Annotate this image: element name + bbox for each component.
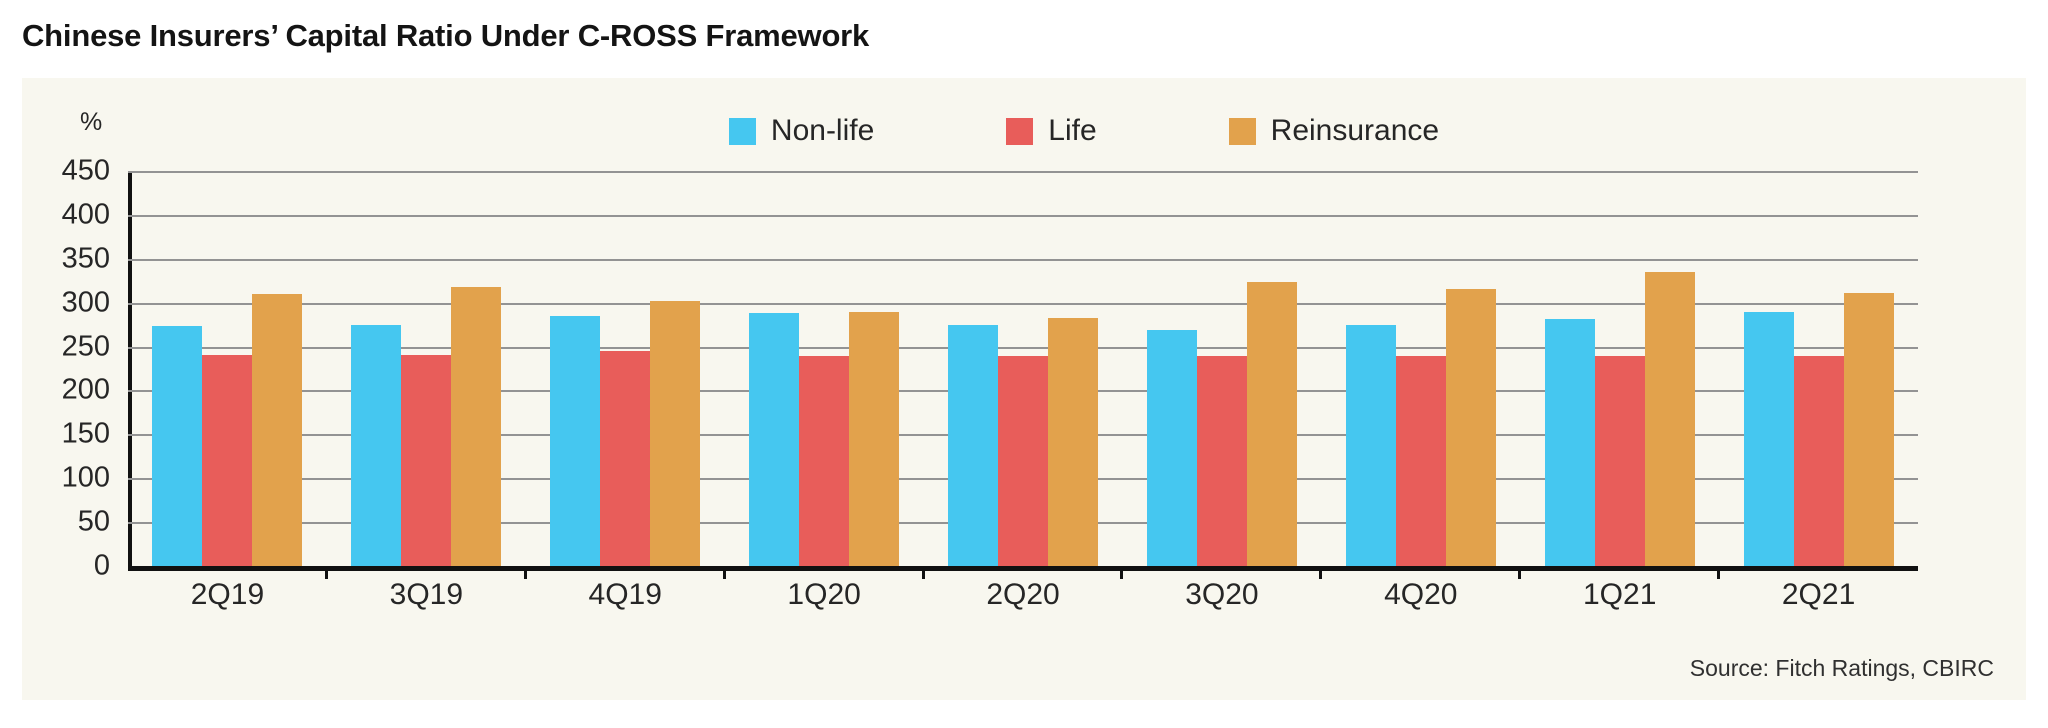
x-axis-tick-label: 2Q20 xyxy=(924,578,1123,612)
bar-group-1q21 xyxy=(1520,171,1719,566)
bar-group-3q19 xyxy=(327,171,526,566)
x-axis-tick-label: 4Q19 xyxy=(526,578,725,612)
bar-reinsurance-3q19[interactable] xyxy=(451,287,501,566)
y-axis-tick-labels: 450400350300250200150100500 xyxy=(22,171,118,566)
bar-life-3q19[interactable] xyxy=(401,355,451,566)
bar-group-2q19 xyxy=(128,171,327,566)
x-axis-tick-labels: 2Q193Q194Q191Q202Q203Q204Q201Q212Q21 xyxy=(128,578,1918,612)
bar-reinsurance-2q20[interactable] xyxy=(1048,318,1098,566)
x-axis-tick-label: 2Q21 xyxy=(1719,578,1918,612)
x-axis-tick-label: 2Q19 xyxy=(128,578,327,612)
legend-item-label: Life xyxy=(1048,114,1096,148)
x-axis-tick-label: 3Q20 xyxy=(1122,578,1321,612)
y-axis-tick-label: 50 xyxy=(78,506,110,539)
bar-non-life-4q19[interactable] xyxy=(550,316,600,566)
bar-non-life-2q21[interactable] xyxy=(1744,312,1794,566)
bar-life-2q19[interactable] xyxy=(202,355,252,566)
bar-life-1q21[interactable] xyxy=(1595,356,1645,566)
x-axis-line xyxy=(128,566,1918,571)
y-axis-tick-label: 400 xyxy=(62,198,110,231)
bar-non-life-3q20[interactable] xyxy=(1147,330,1197,566)
bars-layer xyxy=(128,171,1918,566)
bar-life-3q20[interactable] xyxy=(1197,356,1247,566)
chart-panel: % Non-lifeLifeReinsurance 45040035030025… xyxy=(22,78,2026,700)
bar-reinsurance-3q20[interactable] xyxy=(1247,282,1297,566)
source-note: Source: Fitch Ratings, CBIRC xyxy=(1690,655,1994,682)
bar-group-2q21 xyxy=(1719,171,1918,566)
bar-reinsurance-2q19[interactable] xyxy=(252,294,302,566)
x-axis-tick-label: 4Q20 xyxy=(1321,578,1520,612)
bar-life-2q21[interactable] xyxy=(1794,356,1844,566)
x-axis-tick-label: 1Q20 xyxy=(725,578,924,612)
y-axis-tick-label: 300 xyxy=(62,286,110,319)
y-axis-tick-label: 350 xyxy=(62,242,110,275)
chart-legend: Non-lifeLifeReinsurance xyxy=(22,114,2026,148)
bar-reinsurance-4q19[interactable] xyxy=(650,301,700,566)
bar-life-4q20[interactable] xyxy=(1396,356,1446,566)
bar-group-1q20 xyxy=(725,171,924,566)
bar-non-life-1q21[interactable] xyxy=(1545,319,1595,566)
x-axis-tick-label: 3Q19 xyxy=(327,578,526,612)
bar-life-4q19[interactable] xyxy=(600,351,650,566)
bar-life-1q20[interactable] xyxy=(799,356,849,566)
bar-group-3q20 xyxy=(1122,171,1321,566)
x-axis-tick-label: 1Q21 xyxy=(1520,578,1719,612)
y-axis-tick-label: 150 xyxy=(62,418,110,451)
bar-group-4q19 xyxy=(526,171,725,566)
legend-item-label: Reinsurance xyxy=(1271,114,1439,148)
legend-item-non-life[interactable]: Non-life xyxy=(729,114,874,148)
bar-reinsurance-4q20[interactable] xyxy=(1446,289,1496,566)
page-title: Chinese Insurers’ Capital Ratio Under C-… xyxy=(22,18,869,54)
bar-non-life-2q19[interactable] xyxy=(152,326,202,567)
y-axis-tick-label: 200 xyxy=(62,374,110,407)
legend-swatch-icon xyxy=(729,118,756,145)
y-axis-tick-label: 450 xyxy=(62,155,110,188)
bar-reinsurance-1q20[interactable] xyxy=(849,312,899,566)
bar-non-life-1q20[interactable] xyxy=(749,313,799,566)
bar-life-2q20[interactable] xyxy=(998,356,1048,566)
bar-reinsurance-2q21[interactable] xyxy=(1844,293,1894,566)
legend-item-reinsurance[interactable]: Reinsurance xyxy=(1229,114,1439,148)
bar-group-2q20 xyxy=(924,171,1123,566)
legend-item-label: Non-life xyxy=(771,114,874,148)
bar-group-4q20 xyxy=(1321,171,1520,566)
y-axis-tick-label: 0 xyxy=(94,550,110,583)
chart-page: Chinese Insurers’ Capital Ratio Under C-… xyxy=(0,0,2048,728)
legend-swatch-icon xyxy=(1229,118,1256,145)
y-axis-tick-label: 100 xyxy=(62,462,110,495)
bar-non-life-4q20[interactable] xyxy=(1346,325,1396,566)
legend-swatch-icon xyxy=(1006,118,1033,145)
bar-reinsurance-1q21[interactable] xyxy=(1645,272,1695,566)
y-axis-tick-label: 250 xyxy=(62,330,110,363)
bar-non-life-2q20[interactable] xyxy=(948,325,998,566)
plot-area xyxy=(128,171,1918,566)
bar-non-life-3q19[interactable] xyxy=(351,325,401,566)
legend-item-life[interactable]: Life xyxy=(1006,114,1096,148)
